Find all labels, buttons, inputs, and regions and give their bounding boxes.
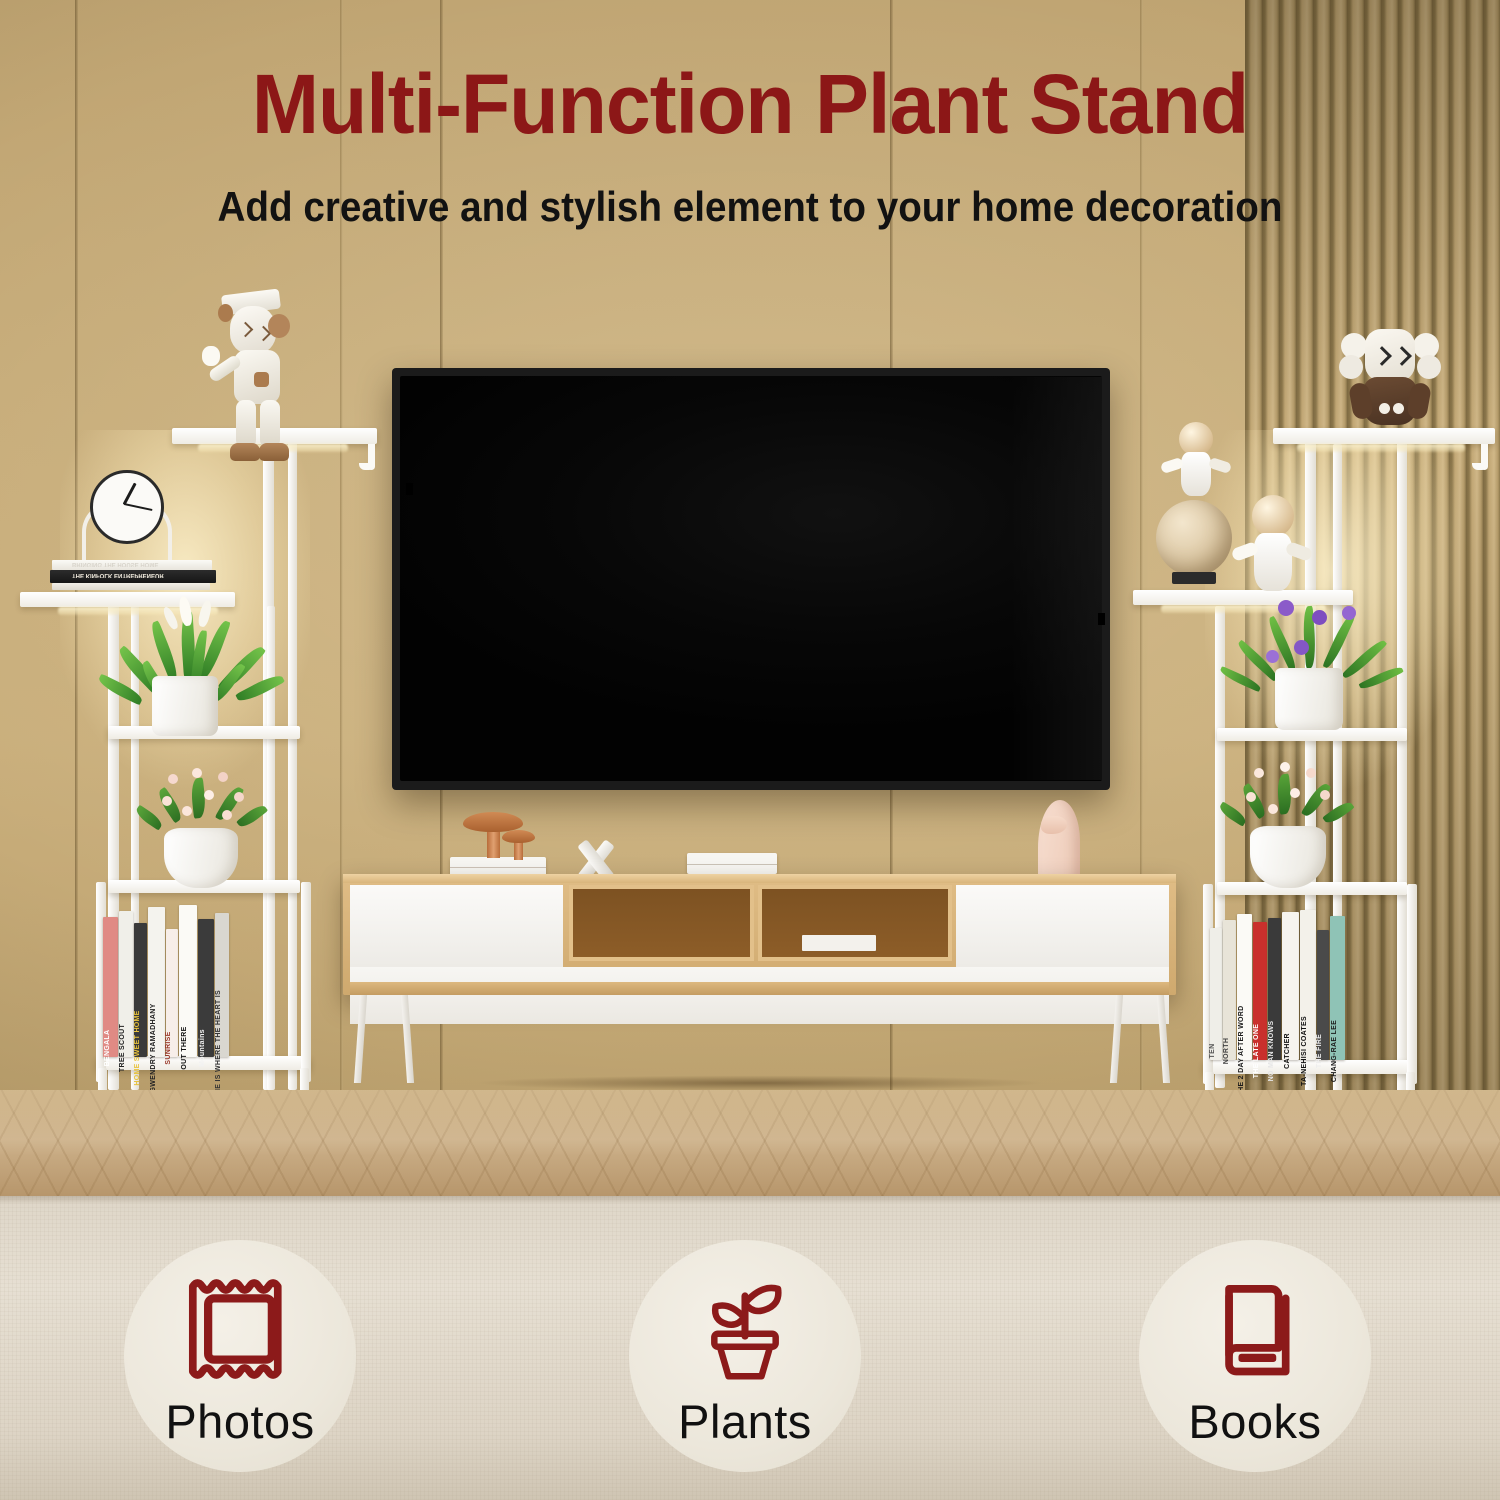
feature-badge-photos[interactable]: Photos xyxy=(124,1240,356,1472)
book-title: TEN xyxy=(1209,1044,1216,1059)
stand-post xyxy=(288,440,297,1090)
book-title: Mountains xyxy=(199,1029,206,1067)
book-title: HOME IS WHERE THE HEART IS xyxy=(215,990,222,1106)
moon-sphere-base xyxy=(1172,572,1216,584)
book-spine: SUNRISE xyxy=(166,929,178,1057)
book-spine: TREE SCOUT xyxy=(119,911,133,1057)
tv-media-console xyxy=(343,874,1176,995)
book-icon xyxy=(1196,1270,1314,1388)
book-title: CHANG-RAE LEE xyxy=(1331,1020,1338,1082)
figurine-leg xyxy=(236,400,256,448)
book-title: TA-NEHISI COATES xyxy=(1301,1016,1308,1086)
book-title: THE FIRE xyxy=(1316,1034,1323,1068)
rug-front-edge xyxy=(0,1196,1500,1204)
figurine-hand xyxy=(1379,403,1390,414)
stand-hook-icon xyxy=(368,444,375,470)
tv-screen xyxy=(400,376,1102,781)
stand-post xyxy=(1397,440,1407,1092)
magazine-top: BRINGING THE HOUSE HOME xyxy=(52,560,212,570)
picture-frame-icon xyxy=(181,1270,299,1388)
tv-sensor-nub xyxy=(406,483,413,495)
daisy-plant-pot xyxy=(1250,826,1326,888)
console-lower-drawer[interactable] xyxy=(350,967,1169,1024)
console-open-cubby-right xyxy=(758,885,952,961)
figurine-ear xyxy=(268,314,290,338)
book-spine: THE 2 DAY AFTER WORD xyxy=(1237,914,1252,1060)
book-spine: Mountains xyxy=(198,919,214,1057)
book-spine: NO MAN KNOWS xyxy=(1268,918,1281,1060)
figurine-shoe xyxy=(230,443,260,461)
book-spine: HOME SWEET HOME xyxy=(134,923,147,1057)
console-base-rail xyxy=(350,982,1169,995)
kaws-companion-figurine xyxy=(196,300,308,475)
magazine-kinfolk: THE KINFOLK ENTREPRENEUR xyxy=(50,570,216,583)
potted-plant-icon xyxy=(686,1270,804,1388)
page-subtitle: Add creative and stylish element to your… xyxy=(60,183,1440,231)
feature-badge-plants[interactable]: Plants xyxy=(629,1240,861,1472)
flowering-plant-pot xyxy=(164,828,238,888)
book-title: HOME SWEET HOME xyxy=(134,1010,141,1085)
book-spine: BENGALA xyxy=(103,917,118,1057)
console-door-right[interactable] xyxy=(956,885,1169,972)
book-title: THE 2 DAY AFTER WORD xyxy=(1238,1006,1245,1097)
feature-label-plants: Plants xyxy=(678,1394,812,1449)
figurine-shoe xyxy=(259,443,289,461)
daisy-plant-foliage xyxy=(1232,762,1352,836)
book-spine: CATCHER xyxy=(1282,912,1299,1060)
kaws-bff-figurine xyxy=(1337,327,1443,445)
moon-sphere-ornament xyxy=(1156,500,1232,576)
console-open-cubby-left xyxy=(569,885,754,961)
figurine-ear xyxy=(1339,355,1363,379)
book-spine: THE LATE ONE xyxy=(1253,922,1267,1060)
book-title: NO MAN KNOWS xyxy=(1268,1021,1275,1082)
console-door-left[interactable] xyxy=(350,885,563,972)
astronaut-body xyxy=(1181,452,1211,496)
book-title: CATCHER xyxy=(1284,1033,1291,1069)
astronaut-arm xyxy=(1208,457,1232,474)
book-title: OUT THERE xyxy=(181,1026,188,1069)
book-spine: TEN xyxy=(1210,928,1222,1060)
astronaut-figurine xyxy=(1234,495,1306,599)
stand-foot xyxy=(300,1068,309,1092)
console-book-stack-2 xyxy=(687,853,777,874)
figurine-hand xyxy=(202,346,220,366)
feature-badge-books[interactable]: Books xyxy=(1139,1240,1371,1472)
book-spine: NORTH xyxy=(1223,920,1236,1060)
cubby-book-stack xyxy=(802,935,876,951)
book-title: BENGALA xyxy=(104,1030,111,1067)
stand-shelf-bottom xyxy=(1203,1060,1417,1074)
left-stand-book-row: BENGALATREE SCOUTHOME SWEET HOMEGWENDRY … xyxy=(103,905,229,1057)
desk-clock xyxy=(90,470,164,544)
peace-lily-pot xyxy=(152,676,218,736)
astronaut-body xyxy=(1254,533,1292,591)
stand-shelf-fourth xyxy=(1217,882,1407,895)
book-title: NORTH xyxy=(1223,1038,1230,1064)
right-stand-book-row: TENNORTHTHE 2 DAY AFTER WORDTHE LATE ONE… xyxy=(1210,912,1345,1060)
feature-label-books: Books xyxy=(1188,1394,1321,1449)
small-copper-bowl xyxy=(502,830,535,843)
stand-post xyxy=(301,882,311,1082)
book-title: SUNRISE xyxy=(165,1031,172,1064)
astronaut-helmet xyxy=(1252,495,1294,537)
feature-label-photos: Photos xyxy=(165,1394,314,1449)
figurine-pocket xyxy=(254,372,269,387)
figurine-leg xyxy=(260,400,280,448)
stand-foot xyxy=(98,1068,107,1092)
stand-post xyxy=(1407,884,1417,1084)
console-top-surface xyxy=(343,874,1176,883)
stand-hook-icon xyxy=(1481,444,1488,470)
shelf-led-glow xyxy=(1297,444,1465,452)
book-title: GWENDRY RAMADHANY xyxy=(150,1003,157,1092)
book-spine: THE FIRE xyxy=(1317,930,1329,1060)
product-banner: Multi-Function Plant Stand Add creative … xyxy=(0,0,1500,1500)
book-title: THE LATE ONE xyxy=(1253,1024,1260,1078)
page-title: Multi-Function Plant Stand xyxy=(30,62,1470,146)
book-spine: TA-NEHISI COATES xyxy=(1300,910,1316,1060)
astronaut-figurine-on-moon xyxy=(1157,422,1231,504)
figurine-hand xyxy=(1393,403,1404,414)
copper-pedestal-bowl xyxy=(463,812,523,832)
wall-mounted-television xyxy=(392,368,1110,790)
purple-flower-pot xyxy=(1275,668,1343,730)
tv-screen-reflection xyxy=(1010,377,1102,780)
figurine-ear xyxy=(1417,355,1441,379)
astronaut-helmet xyxy=(1179,422,1213,456)
book-spine: CHANG-RAE LEE xyxy=(1330,916,1345,1060)
tv-side-nub xyxy=(1098,613,1105,625)
book-title: TREE SCOUT xyxy=(119,1024,126,1072)
floor-reflection xyxy=(0,1090,1500,1200)
book-spine: GWENDRY RAMADHANY xyxy=(148,907,165,1057)
book-spine: OUT THERE xyxy=(179,905,197,1057)
book-spine: HOME IS WHERE THE HEART IS xyxy=(215,913,229,1057)
magazine-bottom xyxy=(52,583,210,590)
